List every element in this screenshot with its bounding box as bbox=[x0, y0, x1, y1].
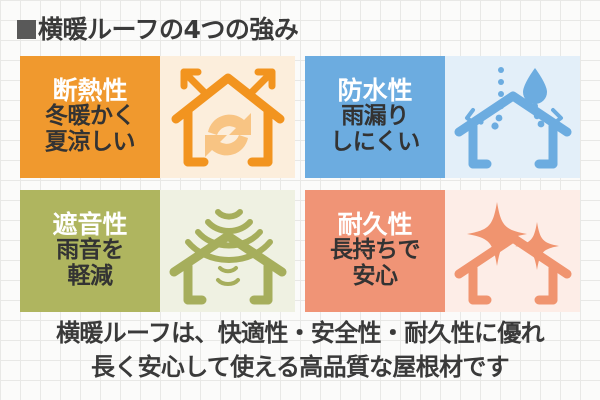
infographic-root: 横暖ルーフの4つの強み 断熱性 冬暖かく 夏涼しい bbox=[0, 0, 600, 400]
feature-card-insulation-heading: 断熱性 bbox=[52, 77, 127, 104]
feature-card-insulation-text: 断熱性 冬暖かく 夏涼しい bbox=[20, 56, 160, 178]
feature-card-insulation-line1: 冬暖かく bbox=[45, 104, 135, 129]
feature-card-durability-line2: 安心 bbox=[353, 264, 398, 289]
feature-card-waterproof-line2: しにくい bbox=[330, 130, 420, 155]
feature-card-soundproof[interactable]: 遮音性 雨音を 軽減 bbox=[20, 190, 295, 312]
house-sound-waves-icon bbox=[160, 190, 295, 312]
house-sparkle-icon bbox=[445, 190, 580, 312]
feature-card-soundproof-line1: 雨音を bbox=[56, 238, 124, 263]
page-title-text: 横暖ルーフの4つの強み bbox=[38, 17, 298, 42]
summary-caption: 横暖ルーフは、快適性・安全性・耐久性に優れ 長く安心して使える高品質な屋根材です bbox=[0, 316, 600, 384]
house-heat-circulation-icon bbox=[160, 56, 295, 178]
feature-card-soundproof-line2: 軽減 bbox=[68, 264, 113, 289]
summary-caption-line2: 長く安心して使える高品質な屋根材です bbox=[0, 350, 600, 384]
feature-card-waterproof-text: 防水性 雨漏り しにくい bbox=[305, 56, 445, 178]
page-title: 横暖ルーフの4つの強み bbox=[17, 12, 298, 46]
feature-card-soundproof-text: 遮音性 雨音を 軽減 bbox=[20, 190, 160, 312]
house-water-droplet-icon bbox=[445, 56, 580, 178]
black-square-bullet-icon bbox=[17, 20, 36, 39]
feature-card-durability-text: 耐久性 長持ちで 安心 bbox=[305, 190, 445, 312]
feature-card-grid: 断熱性 冬暖かく 夏涼しい bbox=[20, 56, 580, 312]
feature-card-soundproof-heading: 遮音性 bbox=[52, 211, 127, 238]
feature-card-waterproof-line1: 雨漏り bbox=[341, 104, 409, 129]
feature-card-waterproof-heading: 防水性 bbox=[337, 77, 412, 104]
feature-card-durability-heading: 耐久性 bbox=[337, 211, 412, 238]
summary-caption-line1: 横暖ルーフは、快適性・安全性・耐久性に優れ bbox=[0, 316, 600, 350]
feature-card-durability-line1: 長持ちで bbox=[330, 238, 420, 263]
feature-card-durability[interactable]: 耐久性 長持ちで 安心 bbox=[305, 190, 580, 312]
feature-card-insulation-line2: 夏涼しい bbox=[45, 130, 135, 155]
feature-card-waterproof[interactable]: 防水性 雨漏り しにくい bbox=[305, 56, 580, 178]
feature-card-insulation[interactable]: 断熱性 冬暖かく 夏涼しい bbox=[20, 56, 295, 178]
